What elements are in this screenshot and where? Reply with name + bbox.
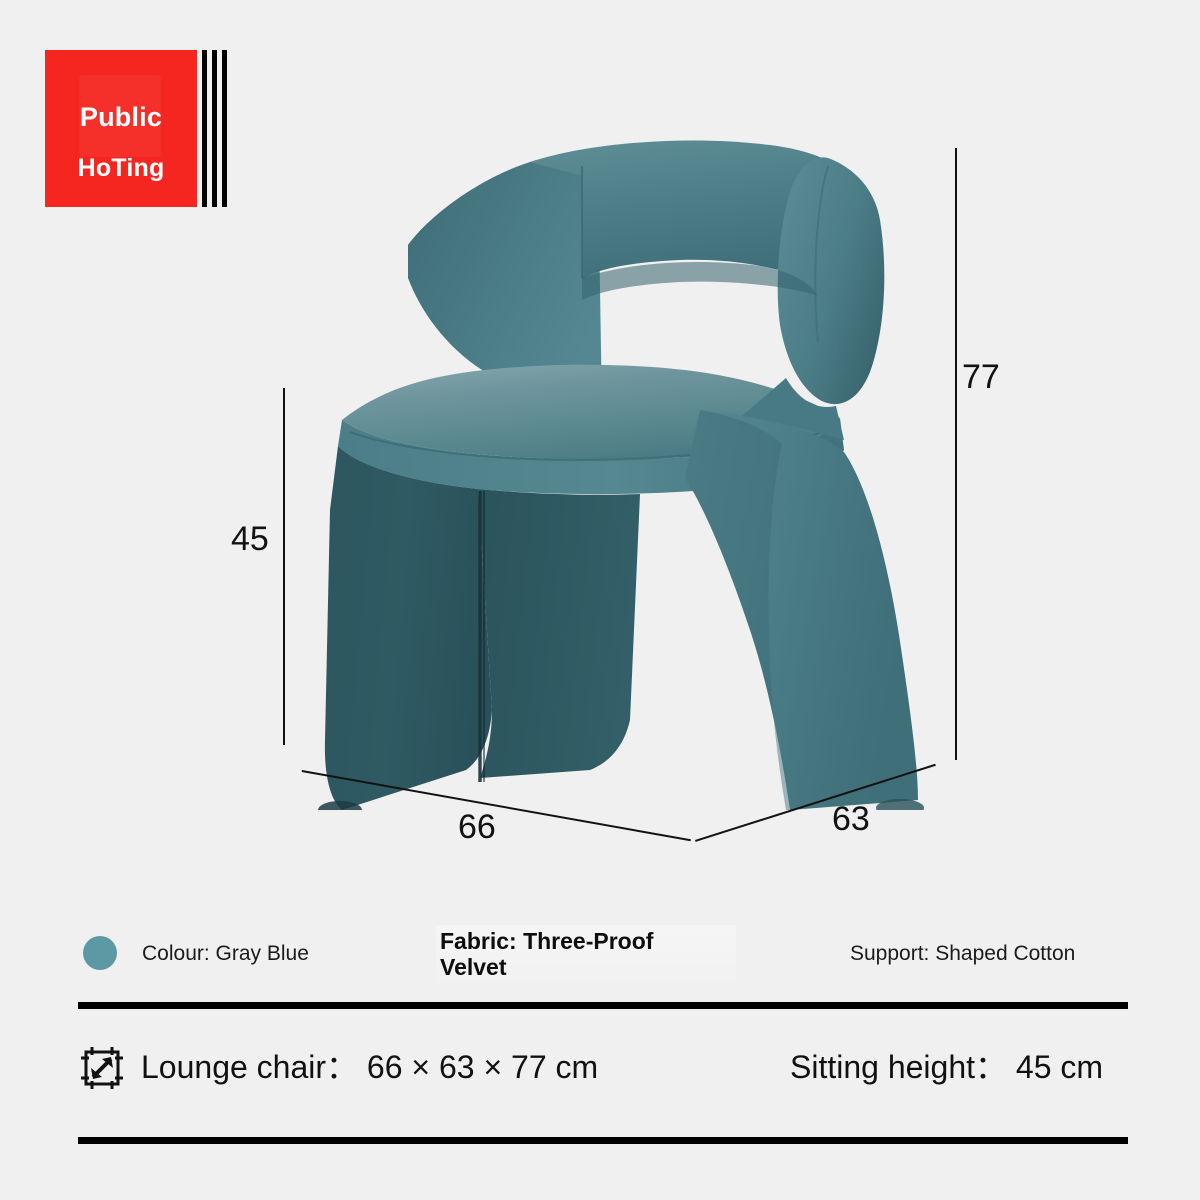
logo-text-secondary: HoTing (45, 154, 197, 183)
divider-bottom (78, 1137, 1128, 1144)
spec-support-label: Support: Shaped Cotton (850, 942, 1075, 966)
spec-colour-label: Colour: Gray Blue (142, 942, 309, 966)
dimension-label-height: 77 (962, 360, 1000, 394)
dimensions-icon (80, 1046, 124, 1090)
spec-fabric-label: Fabric: Three-Proof Velvet (440, 929, 708, 981)
dimension-label-depth: 63 (832, 802, 870, 836)
dimension-label-width: 66 (458, 810, 496, 844)
product-image (230, 110, 990, 810)
brand-logo: Public HoTing (45, 50, 235, 208)
size-summary-main: Lounge chair： 66 × 63 × 77 cm (141, 1042, 598, 1088)
logo-text-primary: Public (45, 102, 197, 133)
spec-row: Colour: Gray Blue Fabric: Three-Proof Ve… (78, 925, 1128, 987)
colour-swatch (83, 936, 117, 970)
divider-top (78, 1002, 1128, 1009)
dimension-line-height (955, 148, 957, 760)
lounge-chair-illustration (230, 110, 990, 810)
product-spec-page: Public HoTing (0, 0, 1200, 1200)
logo-bar-3 (222, 50, 227, 207)
size-summary-row: Lounge chair： 66 × 63 × 77 cm Sitting he… (78, 1040, 1128, 1100)
dimension-line-seat-height (283, 388, 285, 745)
logo-red-square: Public HoTing (45, 50, 197, 207)
logo-bar-1 (202, 50, 207, 207)
logo-bar-2 (212, 50, 217, 207)
size-summary-sitting-height: Sitting height： 45 cm (790, 1042, 1103, 1088)
dimension-label-seat-height: 45 (231, 522, 269, 556)
